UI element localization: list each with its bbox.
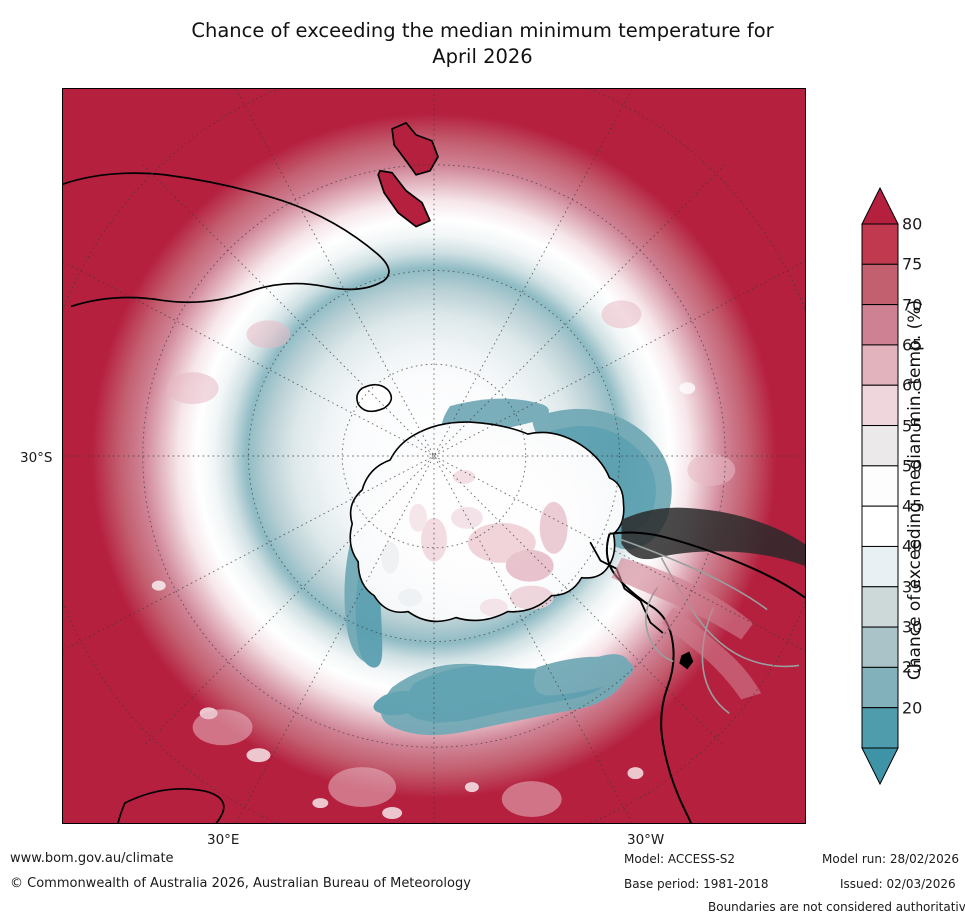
footer-url[interactable]: www.bom.gov.au/climate xyxy=(10,851,174,866)
colorbar-segment xyxy=(862,627,898,667)
colorbar-segment xyxy=(862,466,898,506)
axis-label-30w: 30°W xyxy=(627,832,664,848)
colorbar xyxy=(860,186,900,786)
colorbar-segment xyxy=(862,587,898,627)
colorbar-segment xyxy=(862,264,898,304)
page-title: Chance of exceeding the median minimum t… xyxy=(0,18,965,70)
colorbar-segment xyxy=(862,305,898,345)
map-heatmap xyxy=(63,89,805,823)
colorbar-arrow-low xyxy=(862,748,898,784)
colorbar-axis-label: Chance of exceeding median min. temp. (%… xyxy=(900,180,930,800)
footer-issued: Issued: 02/03/2026 xyxy=(840,877,956,891)
footer-model-run: Model run: 28/02/2026 xyxy=(822,852,959,866)
footer-model: Model: ACCESS-S2 xyxy=(624,852,735,866)
footer-boundaries-note: Boundaries are not considered authoritat… xyxy=(708,900,965,914)
colorbar-segment xyxy=(862,708,898,748)
colorbar-swatches xyxy=(860,186,900,786)
colorbar-arrow-high xyxy=(862,188,898,224)
colorbar-segment xyxy=(862,506,898,546)
page-title-line-2: April 2026 xyxy=(0,44,965,70)
colorbar-axis-label-text: Chance of exceeding median min. temp. (%… xyxy=(900,180,930,800)
colorbar-segment xyxy=(862,546,898,586)
colorbar-segment xyxy=(862,667,898,707)
colorbar-segment xyxy=(862,345,898,385)
axis-label-30s: 30°S xyxy=(20,450,53,466)
colorbar-segment xyxy=(862,426,898,466)
colorbar-segment xyxy=(862,385,898,425)
axis-label-30e: 30°E xyxy=(207,832,239,848)
colorbar-segment xyxy=(862,224,898,264)
map-panel[interactable] xyxy=(62,88,806,824)
footer-base-period: Base period: 1981-2018 xyxy=(624,877,769,891)
page-title-line-1: Chance of exceeding the median minimum t… xyxy=(0,18,965,44)
footer-copyright: © Commonwealth of Australia 2026, Austra… xyxy=(10,876,471,891)
